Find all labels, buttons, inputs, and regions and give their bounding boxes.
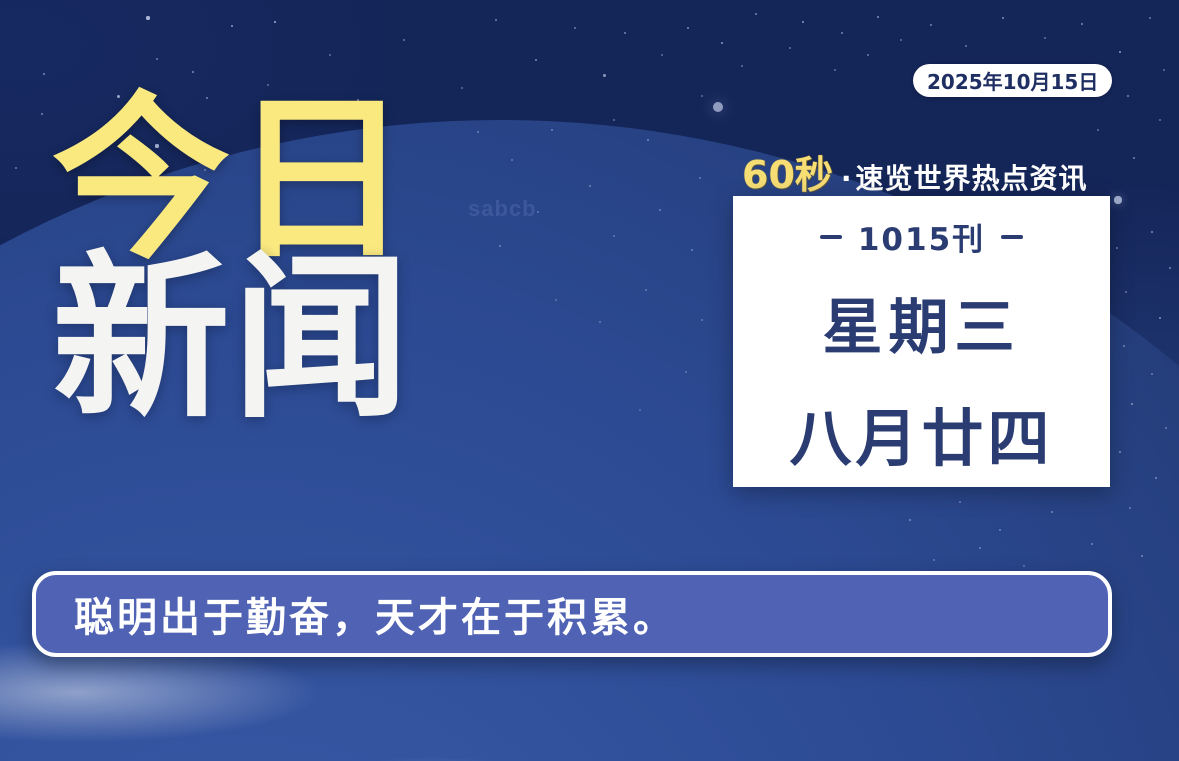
lunar-date-label: 八月廿四 <box>789 388 1053 478</box>
date-badge: 2025年10月15日 <box>913 64 1112 97</box>
slogan-separator-dot: · <box>833 162 856 195</box>
dash-left-icon <box>820 235 842 239</box>
news-poster: sabcb 今日 新闻 2025年10月15日 60秒 · 速览世界热点资讯 1… <box>0 0 1179 761</box>
slogan-seconds: 60秒 <box>742 144 833 199</box>
issue-number-row: 1015刊 <box>820 214 1023 259</box>
title-line-xinwen: 新闻 <box>52 255 412 422</box>
quote-text: 聪明出于勤奋，天才在于积累。 <box>74 585 676 643</box>
issue-number-label: 1015刊 <box>858 214 985 259</box>
quote-bar: 聪明出于勤奋，天才在于积累。 <box>32 571 1112 657</box>
slogan-text: 速览世界热点资讯 <box>856 157 1088 197</box>
weekday-label: 星期三 <box>823 279 1021 366</box>
watermark-text: sabcb <box>468 196 537 222</box>
dash-right-icon <box>1001 235 1023 239</box>
slogan: 60秒 · 速览世界热点资讯 <box>742 144 1088 199</box>
page-title: 今日 新闻 <box>52 96 412 423</box>
issue-card: 1015刊 星期三 八月廿四 <box>733 196 1110 487</box>
